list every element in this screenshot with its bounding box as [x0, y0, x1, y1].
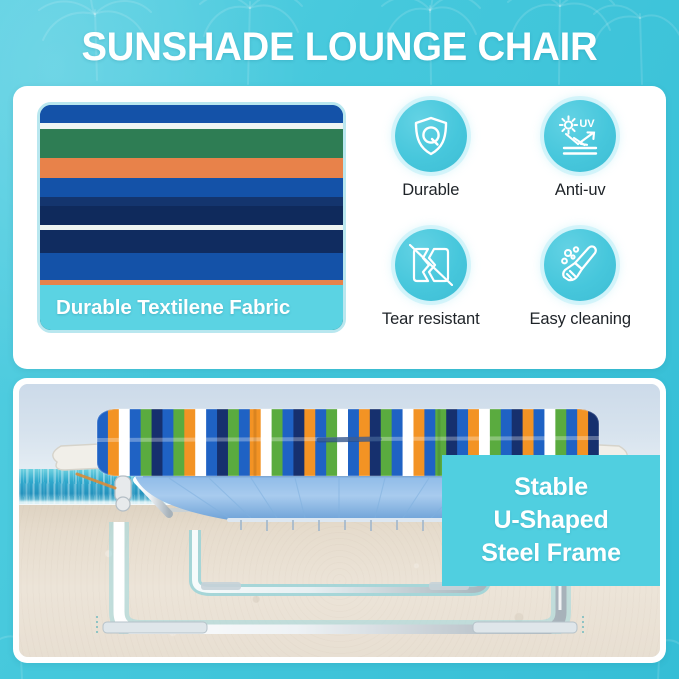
fabric-stripe-8 [40, 230, 343, 252]
fabric-stripe-9 [40, 253, 343, 280]
uv-protection-icon: UV [544, 100, 616, 172]
cushion-stripe [217, 408, 229, 478]
cushion-stripe [239, 408, 251, 478]
page-title: SUNSHADE LOUNGE CHAIR [15, 16, 663, 78]
cushion-stripe [152, 408, 164, 478]
cushion-stripe [413, 408, 425, 478]
feature-label: Tear resistant [382, 310, 480, 329]
uv-icon-text: UV [580, 118, 596, 130]
cushion-stripe [326, 408, 338, 478]
cushion-stripe [403, 408, 415, 478]
feature-label: Anti-uv [555, 181, 606, 200]
cushion-stripe [261, 408, 273, 478]
cushion-stripe [337, 408, 349, 478]
cushion-stripe [381, 408, 393, 478]
fabric-stripe-4 [40, 178, 343, 197]
cushion-stripe [392, 408, 404, 478]
no-tear-fabric-icon [395, 229, 467, 301]
cushion-stripe [424, 408, 436, 478]
product-photo-frame: StableU-ShapedSteel Frame [13, 378, 666, 663]
cushion-stripe [228, 408, 240, 478]
feature-item-durable[interactable]: Durable [358, 100, 504, 221]
fabric-swatch-caption: Durable Textilene Fabric [40, 285, 343, 330]
cushion-stripe [315, 408, 327, 478]
caption-text: StableU-ShapedSteel Frame [481, 471, 621, 570]
cushion-stripe [162, 408, 174, 478]
shield-check-q-icon [395, 100, 467, 172]
feature-label: Durable [402, 181, 459, 200]
cushion-stripe [348, 408, 360, 478]
feature-item-anti-uv[interactable]: UV Anti-uv [508, 100, 654, 221]
beach-chair-photo: StableU-ShapedSteel Frame [19, 384, 660, 657]
cushion-stripe [293, 408, 305, 478]
cushion-stripe [206, 408, 218, 478]
feature-grid: Durable UV [358, 100, 653, 350]
fabric-stripe-5 [40, 197, 343, 206]
cushion-stripe [108, 408, 120, 478]
cushion-stripe [119, 408, 131, 478]
fabric-stripe-3 [40, 158, 343, 178]
cushion-stripe [272, 408, 284, 478]
cushion-stripe [359, 408, 371, 478]
feature-label: Easy cleaning [530, 310, 631, 329]
cushion-stripe [141, 408, 153, 478]
caption-panel: StableU-ShapedSteel Frame [442, 455, 660, 586]
feature-item-tear-resistant[interactable]: Tear resistant [358, 229, 504, 350]
cushion-stripe [184, 408, 196, 478]
cleaning-brush-icon [544, 229, 616, 301]
fabric-stripe-0 [40, 105, 343, 123]
cushion-stripe [304, 408, 316, 478]
feature-item-easy-cleaning[interactable]: Easy cleaning [508, 229, 654, 350]
fabric-swatch: Durable Textilene Fabric [37, 102, 346, 333]
cushion-stripe [370, 408, 382, 478]
fabric-stripe-6 [40, 206, 343, 225]
cushion-stripe [283, 408, 295, 478]
fabric-stripe-2 [40, 129, 343, 158]
cushion-stripe [195, 408, 207, 478]
cushion-stripe [173, 408, 185, 478]
cushion-stripe [130, 408, 142, 478]
features-card: Durable Textilene Fabric Durable [13, 86, 666, 369]
